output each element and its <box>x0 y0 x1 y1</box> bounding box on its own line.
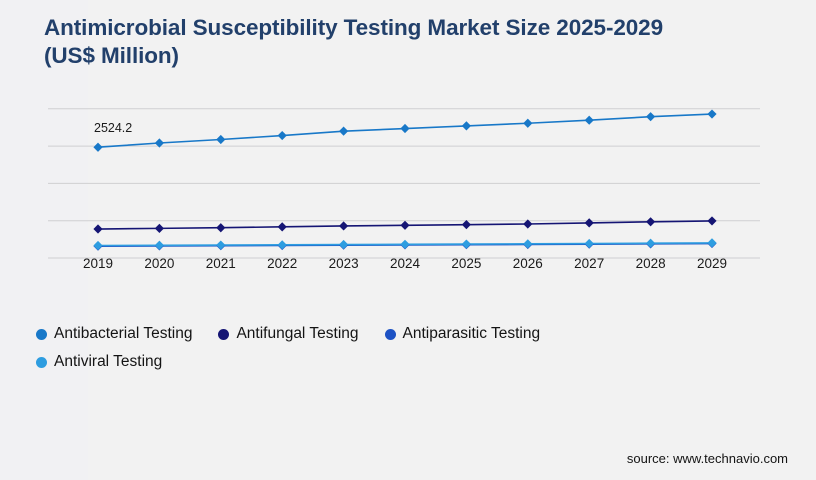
data-point-marker[interactable] <box>585 116 594 125</box>
line-chart-svg <box>48 100 760 258</box>
data-point-marker[interactable] <box>400 124 409 133</box>
data-point-marker[interactable] <box>462 239 471 248</box>
data-point-marker[interactable] <box>523 239 532 248</box>
chart-canvas: Antimicrobial Susceptibility Testing Mar… <box>0 0 816 480</box>
legend-item-label: Antifungal Testing <box>236 325 358 343</box>
chart-title-line-2: (US$ Million) <box>44 43 179 68</box>
x-axis-tick-label: 2028 <box>636 256 666 271</box>
data-point-marker[interactable] <box>278 240 287 249</box>
x-axis-labels: 2019202020212022202320242025202620272028… <box>48 256 760 280</box>
data-point-marker[interactable] <box>646 239 655 248</box>
data-point-marker[interactable] <box>339 221 348 230</box>
data-point-marker[interactable] <box>585 239 594 248</box>
data-point-marker[interactable] <box>462 220 471 229</box>
data-point-marker[interactable] <box>646 112 655 121</box>
legend-item-label: Antibacterial Testing <box>54 325 192 343</box>
x-axis-tick-label: 2020 <box>144 256 174 271</box>
data-point-label: 2524.2 <box>94 121 132 135</box>
chart-title-block: Antimicrobial Susceptibility Testing Mar… <box>44 14 774 71</box>
legend-item[interactable]: Antiparasitic Testing <box>385 322 541 346</box>
data-point-marker[interactable] <box>155 224 164 233</box>
legend-item-label: Antiviral Testing <box>54 353 162 371</box>
data-point-marker[interactable] <box>707 238 716 247</box>
data-point-marker[interactable] <box>216 223 225 232</box>
data-point-marker[interactable] <box>278 222 287 231</box>
source-attribution: source: www.technavio.com <box>627 451 788 466</box>
x-axis-tick-label: 2027 <box>574 256 604 271</box>
legend-marker-icon <box>36 329 47 340</box>
series-markers-group <box>93 109 716 250</box>
data-point-marker[interactable] <box>707 216 716 225</box>
data-point-marker[interactable] <box>339 127 348 136</box>
data-point-marker[interactable] <box>93 241 102 250</box>
page-title: Antimicrobial Susceptibility Testing Mar… <box>44 14 774 71</box>
data-point-marker[interactable] <box>339 240 348 249</box>
data-point-marker[interactable] <box>216 240 225 249</box>
data-point-marker[interactable] <box>278 131 287 140</box>
legend-marker-icon <box>218 329 229 340</box>
plot-area: 2524.2 <box>48 100 760 258</box>
data-point-marker[interactable] <box>585 218 594 227</box>
legend-item[interactable]: Antifungal Testing <box>218 322 358 346</box>
data-point-marker[interactable] <box>216 135 225 144</box>
x-axis-tick-label: 2019 <box>83 256 113 271</box>
x-axis-tick-label: 2026 <box>513 256 543 271</box>
legend-marker-icon <box>36 357 47 368</box>
data-point-marker[interactable] <box>93 224 102 233</box>
x-axis-tick-label: 2023 <box>329 256 359 271</box>
x-axis-tick-label: 2029 <box>697 256 727 271</box>
x-axis-tick-label: 2024 <box>390 256 420 271</box>
chart-legend: Antibacterial TestingAntifungal TestingA… <box>36 322 736 378</box>
data-point-marker[interactable] <box>462 121 471 130</box>
data-point-marker[interactable] <box>155 241 164 250</box>
data-point-marker[interactable] <box>523 119 532 128</box>
data-point-marker[interactable] <box>707 109 716 118</box>
data-point-marker[interactable] <box>400 221 409 230</box>
data-point-marker[interactable] <box>646 217 655 226</box>
legend-item[interactable]: Antibacterial Testing <box>36 322 192 346</box>
x-axis-tick-label: 2025 <box>451 256 481 271</box>
legend-marker-icon <box>385 329 396 340</box>
legend-item[interactable]: Antiviral Testing <box>36 350 162 374</box>
data-point-marker[interactable] <box>400 240 409 249</box>
chart-title-line-1: Antimicrobial Susceptibility Testing Mar… <box>44 15 663 40</box>
legend-item-label: Antiparasitic Testing <box>403 325 541 343</box>
x-axis-tick-label: 2022 <box>267 256 297 271</box>
data-point-marker[interactable] <box>93 143 102 152</box>
x-axis-tick-label: 2021 <box>206 256 236 271</box>
